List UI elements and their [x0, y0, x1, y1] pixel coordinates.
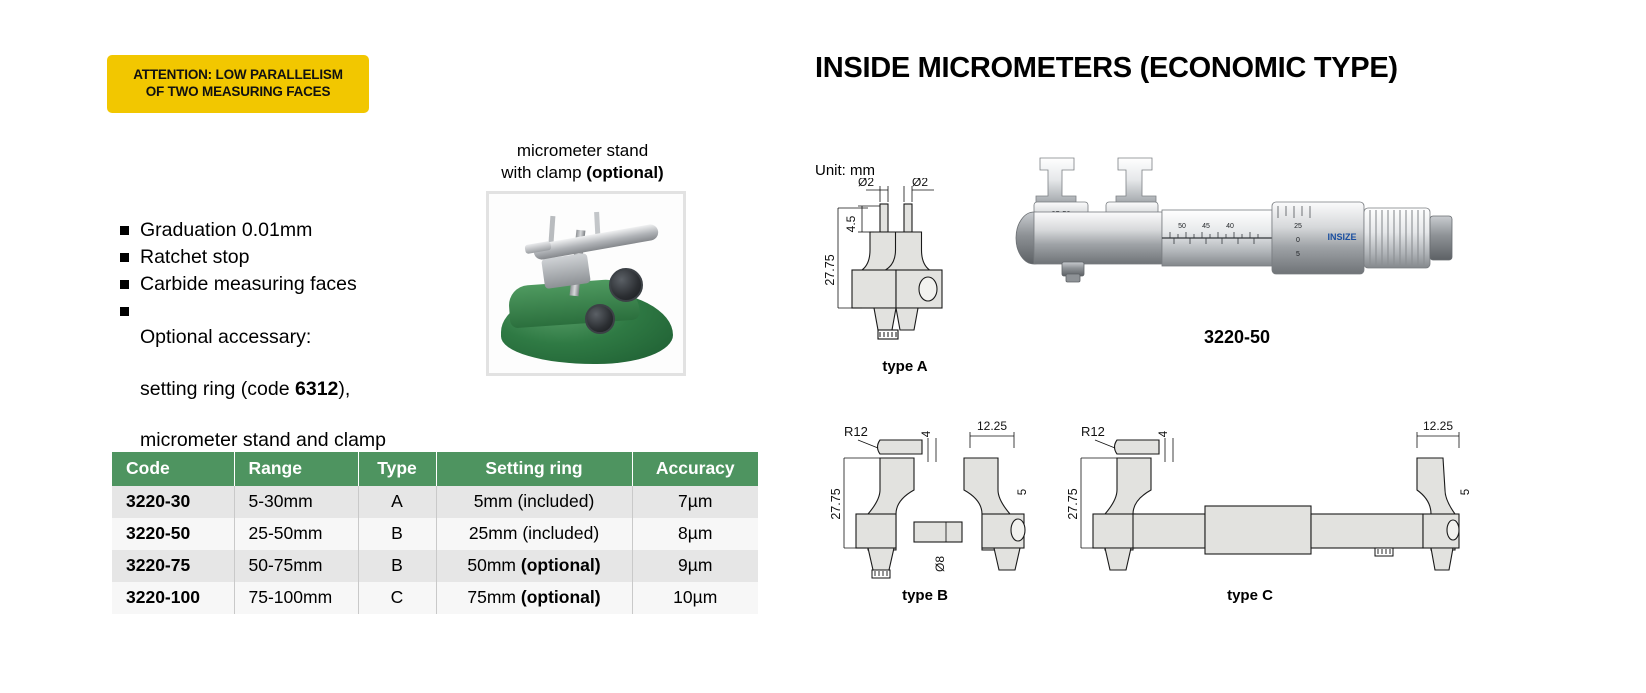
column-header-code: Code: [112, 452, 234, 486]
column-header-type: Type: [358, 452, 436, 486]
feature-setting-ring-line: setting ring (code 6312),: [140, 377, 386, 403]
cell-range: 75-100mm: [234, 582, 358, 614]
column-header-accuracy: Accuracy: [632, 452, 758, 486]
caption-type-b: type B: [865, 587, 985, 604]
dim-step: 5: [1017, 489, 1029, 495]
photo-thimble-number: 0: [1296, 237, 1300, 244]
photo-brand-logo: INSIZE: [1327, 232, 1356, 242]
attention-badge: ATTENTION: LOW PARALLELISM OF TWO MEASUR…: [107, 55, 369, 113]
table-row: 3220-100 75-100mm C 75mm (optional) 10µm: [112, 582, 758, 614]
feature-label: Carbide measuring faces: [140, 272, 357, 298]
micrometer-stand-photo: [486, 191, 686, 376]
bullet-square-icon: [120, 280, 129, 289]
cell-accuracy: 8µm: [632, 518, 758, 550]
attention-line-2: OF TWO MEASURING FACES: [146, 84, 331, 101]
stand-knob-shape: [609, 268, 643, 302]
cell-code: 3220-100: [112, 582, 234, 614]
dim-width: 12.25: [1423, 419, 1453, 433]
dim-tip-length: 4.5: [844, 215, 858, 232]
cell-accuracy: 7µm: [632, 486, 758, 518]
column-header-range: Range: [234, 452, 358, 486]
dim-width: 12.25: [977, 419, 1007, 433]
dim-thickness: 4: [921, 430, 933, 437]
stand-knob-shape: [585, 304, 615, 334]
caption-type-a: type A: [845, 358, 965, 375]
table-header-row: Code Range Type Setting ring Accuracy: [112, 452, 758, 486]
feature-label: Ratchet stop: [140, 245, 249, 271]
cell-setting-ring: 50mm (optional): [436, 550, 632, 582]
feature-item: Graduation 0.01mm: [120, 218, 450, 244]
cell-setting-ring: 5mm (included): [436, 486, 632, 518]
dim-step: 5: [1460, 489, 1472, 495]
cell-setting-ring: 75mm (optional): [436, 582, 632, 614]
feature-stand-line: micrometer stand and clamp: [140, 428, 386, 454]
dim-height: 27.75: [1066, 488, 1080, 519]
stand-caption-line-2: with clamp (optional): [470, 162, 695, 184]
dim-radius: R12: [844, 424, 868, 439]
bullet-square-icon: [120, 226, 129, 235]
dim-height: 27.75: [829, 488, 843, 519]
cell-accuracy: 9µm: [632, 550, 758, 582]
dim-diameter-right: Ø2: [912, 178, 928, 189]
cell-range: 50-75mm: [234, 550, 358, 582]
bullet-square-icon: [120, 253, 129, 262]
specification-table: Code Range Type Setting ring Accuracy 32…: [112, 452, 758, 614]
table-row: 3220-50 25-50mm B 25mm (included) 8µm: [112, 518, 758, 550]
feature-item: Ratchet stop: [120, 245, 450, 271]
stand-optional-tag: (optional): [586, 163, 663, 182]
cell-code: 3220-30: [112, 486, 234, 518]
photo-scale-number: 45: [1202, 223, 1210, 230]
code-6312: 6312: [295, 378, 338, 400]
dim-radius: R12: [1081, 424, 1105, 439]
table-row: 3220-30 5-30mm A 5mm (included) 7µm: [112, 486, 758, 518]
attention-line-1: ATTENTION: LOW PARALLELISM: [133, 67, 343, 84]
cell-type: B: [358, 518, 436, 550]
photo-thimble-number: 5: [1296, 251, 1300, 258]
dim-height: 27.75: [823, 254, 837, 285]
cell-type: C: [358, 582, 436, 614]
cell-type: A: [358, 486, 436, 518]
ring-note: (optional): [521, 555, 601, 575]
stand-caption-line-1: micrometer stand: [470, 140, 695, 162]
cell-type: B: [358, 550, 436, 582]
feature-label: Graduation 0.01mm: [140, 218, 312, 244]
micrometer-product-photo: 25-50 mm 0.01: [1010, 140, 1480, 320]
table-row: 3220-75 50-75mm B 50mm (optional) 9µm: [112, 550, 758, 582]
catalog-page: ATTENTION: LOW PARALLELISM OF TWO MEASUR…: [0, 0, 1646, 693]
ring-note: (optional): [521, 587, 601, 607]
unit-label: Unit: mm: [815, 162, 875, 179]
ring-note: (included): [522, 523, 599, 543]
drawing-type-a: Ø2 Ø2 27.75 4.5: [818, 178, 998, 363]
caption-type-c: type C: [1190, 587, 1310, 604]
dim-diameter-left: Ø2: [858, 178, 874, 189]
drawing-type-b: 27.75 R12 4 12.25 Ø8 5: [818, 418, 1033, 583]
feature-label: Optional accessary:: [140, 325, 386, 351]
bullet-square-icon: [120, 307, 129, 316]
cell-range: 25-50mm: [234, 518, 358, 550]
photo-scale-number: 50: [1178, 223, 1186, 230]
dim-bore: Ø8: [933, 556, 947, 572]
cell-setting-ring: 25mm (included): [436, 518, 632, 550]
cell-code: 3220-75: [112, 550, 234, 582]
cell-accuracy: 10µm: [632, 582, 758, 614]
dim-thickness: 4: [1158, 430, 1170, 437]
product-model-label: 3220-50: [1204, 327, 1270, 348]
drawing-type-c: 27.75 R12 4 12.25 5: [1045, 418, 1485, 583]
cell-range: 5-30mm: [234, 486, 358, 518]
page-title: INSIDE MICROMETERS (ECONOMIC TYPE): [815, 52, 1398, 85]
stand-caption: micrometer stand with clamp (optional): [470, 140, 695, 184]
feature-item: Carbide measuring faces: [120, 272, 450, 298]
photo-scale-number: 40: [1226, 223, 1234, 230]
column-header-setting-ring: Setting ring: [436, 452, 632, 486]
ring-note: (included): [517, 491, 594, 511]
cell-code: 3220-50: [112, 518, 234, 550]
photo-thimble-number: 25: [1294, 223, 1302, 230]
